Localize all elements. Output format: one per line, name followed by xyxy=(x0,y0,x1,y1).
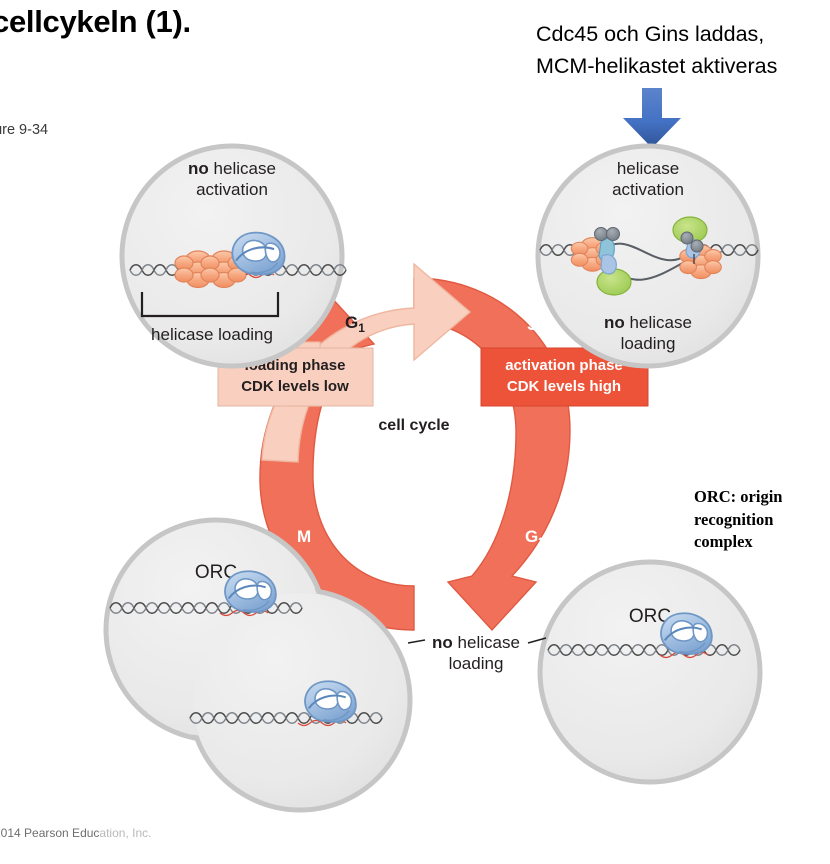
cell-m-orc-upper xyxy=(225,571,276,612)
cell-g1-caption-line-1: no helicase xyxy=(188,159,276,178)
top-callout-line-2: MCM-helikastet aktiveras xyxy=(536,50,777,82)
cell-s-caption-line-2: activation xyxy=(612,180,684,199)
cell-g2: ORC xyxy=(540,562,760,782)
middle-caption-line-1: no helicase xyxy=(432,633,520,652)
cell-g1-caption-line-2: activation xyxy=(196,180,268,199)
cell-g2-orc xyxy=(661,613,712,654)
middle-caption-leader-left xyxy=(408,640,425,643)
phase-label-m: M xyxy=(297,527,311,546)
copyright-clear: 2014 Pearson Educ xyxy=(0,826,99,840)
cell-s: helicase activation xyxy=(538,146,758,366)
cell-g1: no helicase activation helicase loading xyxy=(122,146,346,366)
top-callout-text: Cdc45 och Gins laddas, MCM-helikastet ak… xyxy=(536,18,777,82)
activation-phase-line-2: CDK levels high xyxy=(507,378,621,395)
copyright-notice: 2014 Pearson Education, Inc. xyxy=(0,826,151,840)
cell-s-footer-line-2: loading xyxy=(621,334,676,353)
middle-caption: no helicase loading xyxy=(408,633,546,673)
cell-s-footer-line-1: no helicase xyxy=(604,313,692,332)
phase-label-g1: G1 xyxy=(345,313,365,335)
cell-cycle-figure: G1 S G2 M cell cycle loading phase CDK l… xyxy=(0,130,830,820)
cycle-center-label: cell cycle xyxy=(378,417,449,434)
cell-g1-orc xyxy=(232,233,284,275)
phase-label-s: S xyxy=(527,315,538,334)
cell-s-caption-line-1: helicase xyxy=(617,159,679,178)
cell-m-orc-lower xyxy=(305,681,356,722)
copyright-faded: ation, Inc. xyxy=(99,826,151,840)
page-title: cellcykeln (1). xyxy=(0,4,191,40)
cell-m: ORC xyxy=(106,520,410,810)
middle-caption-line-2: loading xyxy=(449,654,504,673)
top-callout-line-1: Cdc45 och Gins laddas, xyxy=(536,18,777,50)
cell-g1-bracket-label: helicase loading xyxy=(151,325,273,344)
loading-phase-line-2: CDK levels low xyxy=(241,378,349,395)
